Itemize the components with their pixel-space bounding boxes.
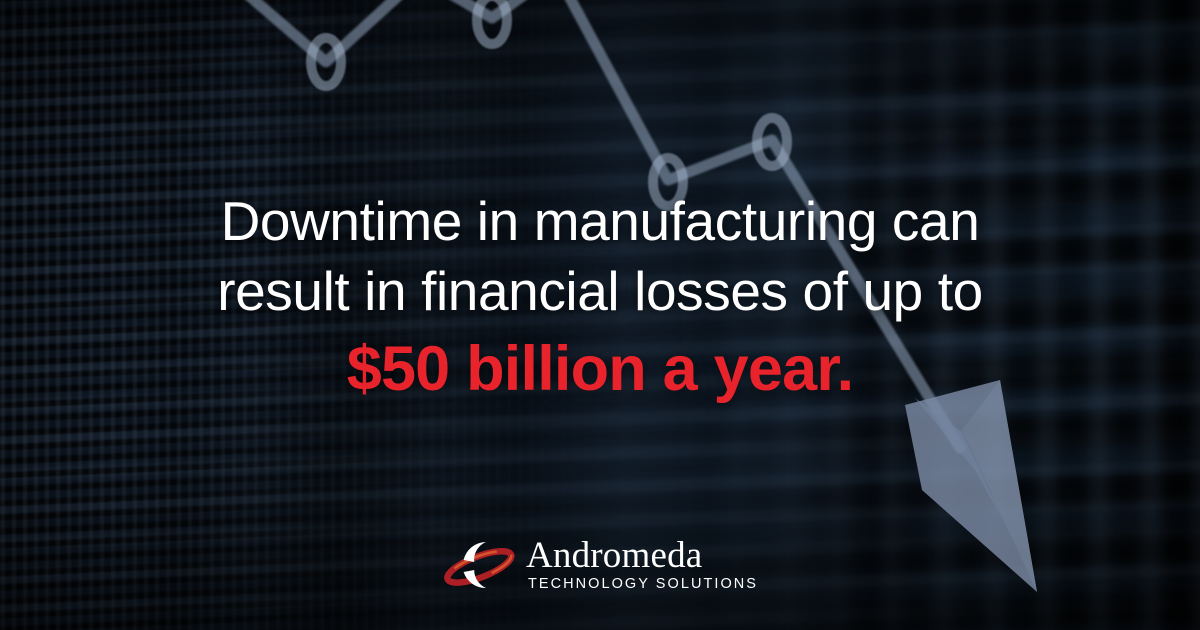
headline-line-2: result in financial losses of up to bbox=[0, 256, 1200, 326]
headline-line-1: Downtime in manufacturing can bbox=[0, 186, 1200, 256]
statistic-banner: Downtime in manufacturing can result in … bbox=[0, 0, 1200, 630]
logo-wordmark: Andromeda TECHNOLOGY SOLUTIONS bbox=[526, 537, 758, 593]
andromeda-planet-ring-icon bbox=[442, 534, 516, 596]
headline-block: Downtime in manufacturing can result in … bbox=[0, 186, 1200, 408]
logo-company-name: Andromeda bbox=[526, 537, 702, 575]
headline-accent-statistic: $50 billion a year. bbox=[0, 330, 1200, 408]
logo-tagline: TECHNOLOGY SOLUTIONS bbox=[528, 576, 758, 593]
brand-logo[interactable]: Andromeda TECHNOLOGY SOLUTIONS bbox=[0, 534, 1200, 596]
